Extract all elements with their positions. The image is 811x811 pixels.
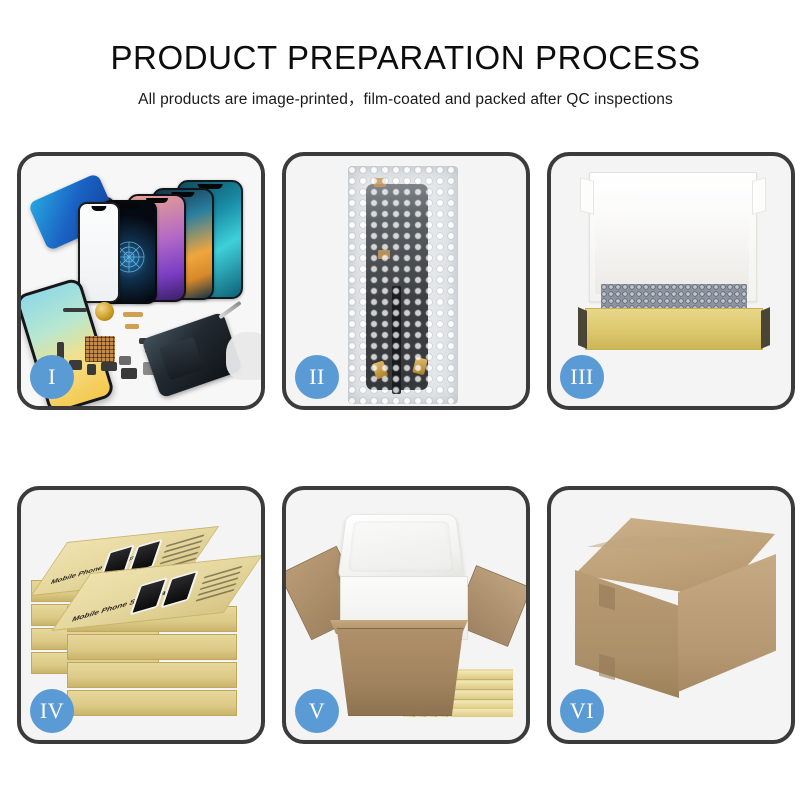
process-panel-3: III: [547, 152, 795, 410]
process-panel-6: VI: [547, 486, 795, 744]
process-panel-grid: I II III: [17, 152, 795, 744]
hand-holding-part: [226, 332, 261, 380]
carton-body: [328, 628, 472, 716]
page-subtitle: All products are image-printed，film-coat…: [0, 87, 811, 109]
process-panel-5: V: [282, 486, 530, 744]
bubble-wrap-sleeve: [348, 166, 458, 404]
carton-tape-upper: [599, 584, 615, 611]
box-front-panel: [585, 308, 763, 350]
process-panel-2: II: [282, 152, 530, 410]
flex-cable: [392, 286, 401, 394]
foam-box-lid: [337, 514, 464, 581]
panel-badge-5: V: [295, 689, 339, 733]
panel-badge-4: IV: [30, 689, 74, 733]
foam-sheet: [595, 212, 749, 294]
panel-badge-1: I: [30, 355, 74, 399]
chip-grid-part: [85, 336, 115, 362]
carton-tape-lower: [599, 654, 615, 681]
phone-glass-protector: [78, 202, 120, 303]
panel-badge-3: III: [560, 355, 604, 399]
tape-piece-mid: [378, 250, 390, 259]
gold-coil-part: [95, 302, 114, 321]
carton-left-face: [575, 570, 679, 698]
panel-badge-6: VI: [560, 689, 604, 733]
page-header: PRODUCT PREPARATION PROCESS All products…: [0, 0, 811, 109]
process-panel-1: I: [17, 152, 265, 410]
tape-piece-top: [374, 178, 386, 187]
panel-badge-2: II: [295, 355, 339, 399]
page-title: PRODUCT PREPARATION PROCESS: [0, 40, 811, 76]
process-panel-4: Mobile Phone Spare Parts Mobile Phone Sp…: [17, 486, 265, 744]
